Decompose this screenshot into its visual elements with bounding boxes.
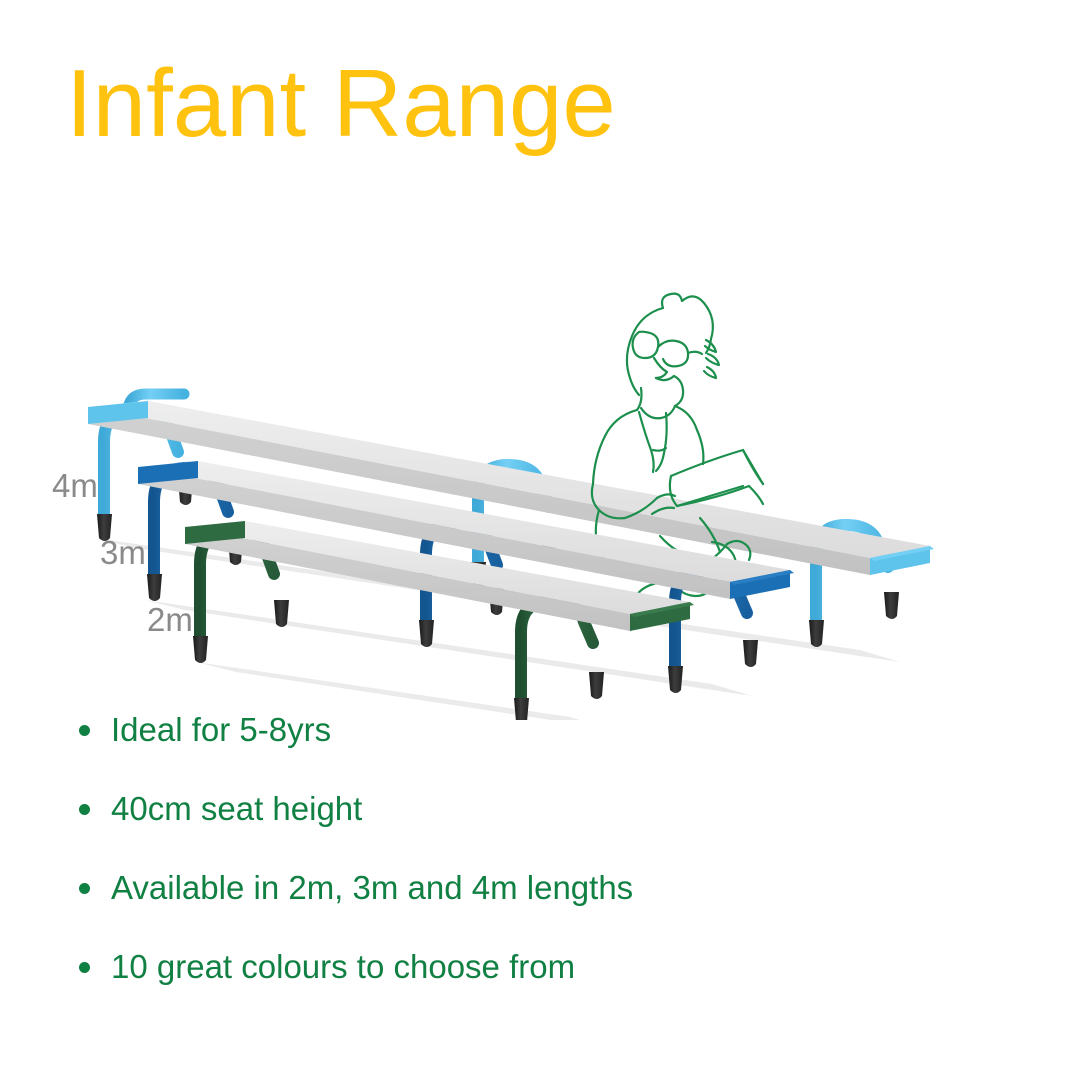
bench-2m-foot-4	[589, 672, 604, 699]
bench-3m-foot-3	[419, 620, 434, 647]
bench-2m-foot-2	[274, 600, 289, 627]
feature-label: 10 great colours to choose from	[111, 948, 575, 985]
product-slide: Infant Range	[0, 0, 1080, 1080]
feature-label: Available in 2m, 3m and 4m lengths	[111, 869, 633, 906]
bench-3m-foot-5	[668, 666, 683, 693]
feature-label: 40cm seat height	[111, 790, 362, 827]
dimension-label-4m: 4m	[52, 467, 98, 505]
feature-list: Ideal for 5-8yrs 40cm seat height Availa…	[70, 704, 1010, 1020]
dimension-label-3m: 3m	[100, 534, 146, 572]
list-item: Ideal for 5-8yrs	[70, 704, 1010, 783]
bench-4m-foot-6	[884, 592, 899, 619]
bench-2m-foot-1	[193, 636, 208, 663]
bench-3m-foot-6	[743, 640, 758, 667]
bullet-dot-icon	[79, 804, 90, 815]
bench-illustration	[0, 270, 1080, 720]
bullet-dot-icon	[79, 962, 90, 973]
page-title: Infant Range	[66, 56, 616, 152]
list-item: 10 great colours to choose from	[70, 941, 1010, 1020]
list-item: Available in 2m, 3m and 4m lengths	[70, 862, 1010, 941]
list-item: 40cm seat height	[70, 783, 1010, 862]
bench-3m-foot-1	[147, 574, 162, 601]
bullet-dot-icon	[79, 883, 90, 894]
dimension-label-2m: 2m	[147, 601, 193, 639]
feature-label: Ideal for 5-8yrs	[111, 711, 331, 748]
bullet-dot-icon	[79, 725, 90, 736]
bench-4m-foot-5	[809, 620, 824, 647]
